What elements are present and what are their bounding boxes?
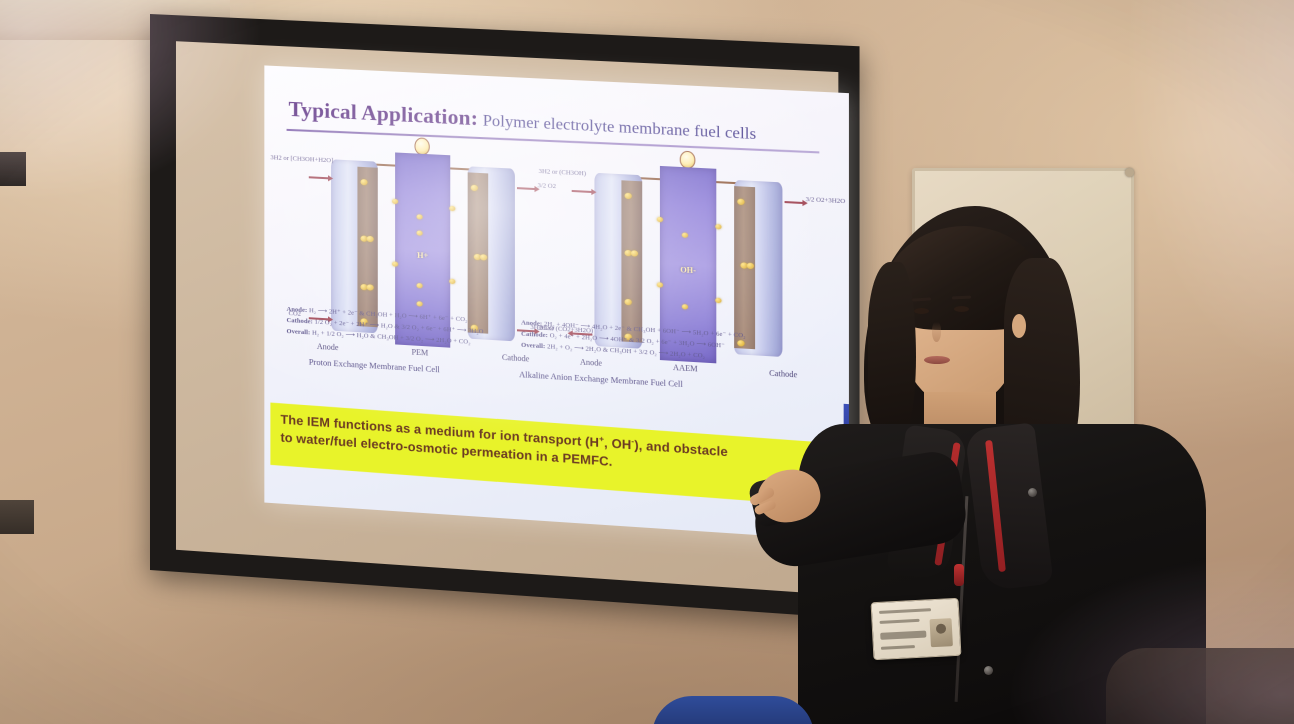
ion-dot [417,230,423,235]
ion-dot [737,199,744,206]
chair [652,696,814,724]
cathode-catalyst-layer [468,172,489,333]
ion-dot [715,224,721,229]
ion-dot [682,304,688,309]
ion-dot [449,279,455,284]
anode-catalyst-layer [621,180,642,342]
ion-dot [449,206,455,211]
ion-dot [480,254,487,260]
aaem-ion-label: OH- [660,264,716,276]
jacket-button [984,666,993,675]
ion-dot [625,193,632,200]
label-membrane: AAEM [673,363,698,374]
label-membrane: PEM [412,347,429,357]
banner-line1-b: , OH [604,436,631,452]
left-wall-fixture-lower [0,500,34,534]
light-bulb-icon [680,151,696,169]
eye-right [954,306,969,312]
slide-title-main: Typical Application: [289,97,479,131]
presenter [746,196,1216,724]
ion-dot [471,185,478,191]
equation-name: Anode: [287,306,308,314]
outlet-top-right-arrow [517,187,536,190]
anode-catalyst-layer [357,167,377,328]
badge-text-line [880,619,920,624]
ion-dot [360,179,367,185]
jacket-button [1028,488,1037,497]
ion-dot [417,214,423,219]
equation-name: Cathode: [287,317,313,326]
ion-dot [657,282,663,287]
ion-dot [682,232,688,237]
ion-dot [417,301,423,306]
equation-name: Overall: [287,328,311,336]
ion-dot [631,250,638,257]
projection-screen-surface: Typical Application: Polymer electrolyte… [176,41,838,595]
light-bulb-icon [414,137,429,155]
inlet-top-left-arrow [309,176,329,179]
equation-name: Cathode: [521,331,548,340]
badge-barcode [880,630,926,639]
badge-text-line [879,608,931,614]
label-anode: Anode [580,357,602,367]
foreground-object [1106,648,1294,724]
nose [932,322,941,342]
badge-photo [930,618,953,647]
equation-name: Anode: [521,319,542,327]
equation-name: Overall: [521,342,545,351]
ion-dot [417,283,423,288]
eye-left [914,308,929,314]
pem-ion-label: H+ [395,249,450,261]
ion-dot [392,261,398,266]
lecture-room-photo: Typical Application: Polymer electrolyte… [0,0,1294,724]
ion-dot [657,217,663,222]
lanyard-clip [954,564,964,586]
ear [1012,314,1026,338]
label-anode: Anode [317,342,339,352]
ion-dot [367,236,374,242]
inlet-top-left-arrow [572,190,593,193]
ion-dot [367,284,374,290]
mouth [924,356,950,364]
ion-dot [625,299,632,306]
ion-dot [392,199,398,204]
label-cathode: Cathode [502,353,529,364]
id-badge [871,598,962,661]
ion-dot [715,298,721,303]
left-wall-fixture [0,152,26,186]
badge-text-line [881,645,915,650]
